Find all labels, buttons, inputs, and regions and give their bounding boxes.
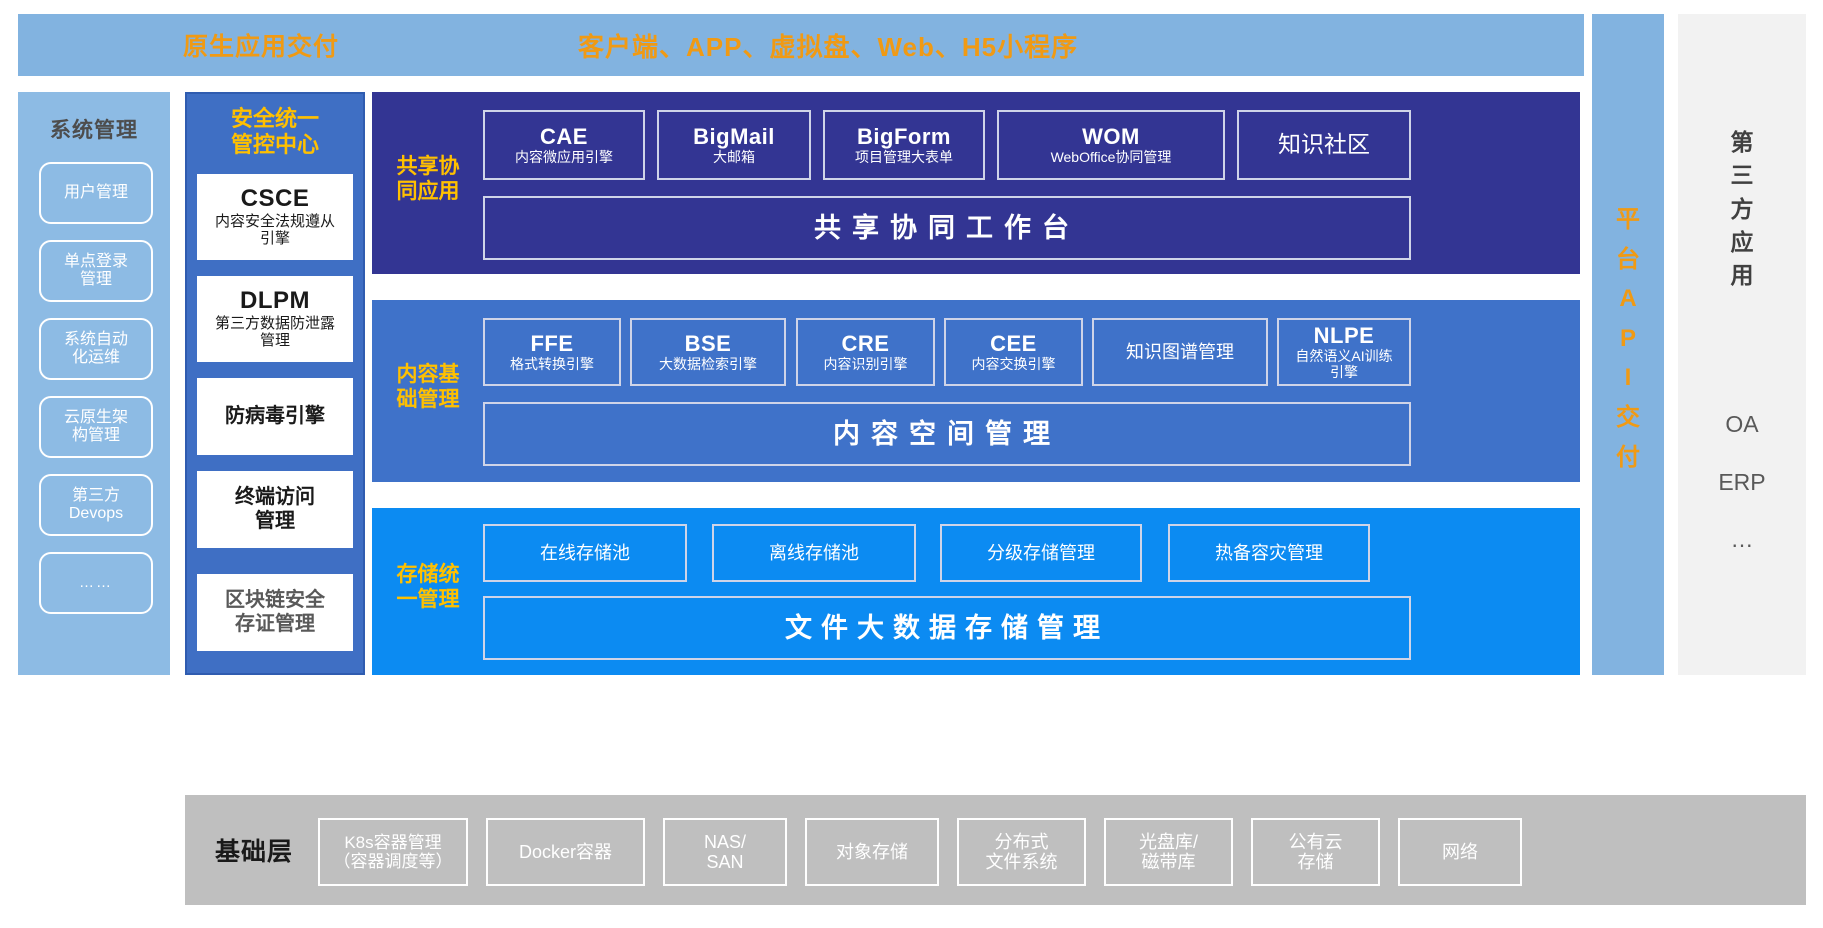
sysmgmt-item-user[interactable]: 用户管理 xyxy=(39,162,153,224)
infra-tile-nas-san[interactable]: NAS/SAN xyxy=(663,818,787,886)
infra-tile-label: Docker容器 xyxy=(519,842,612,862)
system-management-title: 系统管理 xyxy=(18,114,170,144)
security-item-label: 区块链安全存证管理 xyxy=(225,589,325,636)
sysmgmt-item-label: 第三方Devops xyxy=(69,487,123,523)
platform-api-delivery-label: 平台API交付 xyxy=(1592,200,1664,477)
tile-sub: 自然语义AI训练引擎 xyxy=(1295,348,1392,380)
third-party-items: OAERP… xyxy=(1678,396,1806,569)
infra-tile-network[interactable]: 网络 xyxy=(1398,818,1522,886)
tile-sub: 项目管理大表单 xyxy=(855,149,953,165)
wide-bar-label: 共享协同工作台 xyxy=(814,213,1080,243)
tile-wom[interactable]: WOM WebOffice协同管理 xyxy=(997,110,1225,180)
security-item-antivirus[interactable]: 防病毒引擎 xyxy=(197,378,353,455)
shared-collaboration-label: 共享协同应用 xyxy=(382,154,474,204)
tile-cre[interactable]: CRE 内容识别引擎 xyxy=(796,318,935,386)
security-item-label: 终端访问管理 xyxy=(235,486,315,533)
security-item-dlpm[interactable]: DLPM 第三方数据防泄露管理 xyxy=(197,276,353,362)
native-app-delivery-label: 原生应用交付 xyxy=(183,14,339,76)
shared-collaboration-workbench-bar[interactable]: 共享协同工作台 xyxy=(483,196,1411,260)
infrastructure-title: 基础层 xyxy=(215,795,293,905)
tile-nlpe[interactable]: NLPE 自然语义AI训练引擎 xyxy=(1277,318,1411,386)
tile-label: 知识图谱管理 xyxy=(1126,342,1234,362)
infra-tile-label: K8s容器管理（容器调度等） xyxy=(334,833,453,871)
sysmgmt-item-sso[interactable]: 单点登录管理 xyxy=(39,240,153,302)
sysmgmt-item-devops[interactable]: 第三方Devops xyxy=(39,474,153,536)
tile-abbr: NLPE xyxy=(1314,324,1375,349)
sysmgmt-item-label: 系统自动化运维 xyxy=(64,331,128,367)
wide-bar-label: 内容空间管理 xyxy=(833,419,1061,449)
tile-abbr: BigForm xyxy=(857,125,951,150)
security-control-center-panel: 安全统一管控中心 CSCE 内容安全法规遵从引擎 DLPM 第三方数据防泄露管理… xyxy=(185,92,365,675)
security-item-abbr: CSCE xyxy=(241,186,310,213)
third-party-app-column: 第三方应用 OAERP… xyxy=(1678,14,1806,675)
infra-tile-label: 对象存储 xyxy=(836,842,908,862)
content-foundation-band: 内容基础管理 FFE 格式转换引擎 BSE 大数据检索引擎 CRE 内容识别引擎… xyxy=(372,300,1580,482)
infra-tile-label: 光盘库/磁带库 xyxy=(1139,832,1198,872)
tile-offline-pool[interactable]: 离线存储池 xyxy=(712,524,916,582)
security-center-title: 安全统一管控中心 xyxy=(187,106,363,158)
tile-sub: 内容交换引擎 xyxy=(972,356,1056,372)
tile-sub: 内容微应用引擎 xyxy=(515,149,613,165)
system-management-panel: 系统管理 用户管理 单点登录管理 系统自动化运维 云原生架构管理 第三方Devo… xyxy=(18,92,170,675)
tile-bse[interactable]: BSE 大数据检索引擎 xyxy=(630,318,786,386)
tile-sub: 格式转换引擎 xyxy=(510,356,594,372)
infra-tile-label: 公有云存储 xyxy=(1289,832,1343,872)
top-delivery-banner: 原生应用交付 客户端、APP、虚拟盘、Web、H5小程序 xyxy=(18,14,1584,76)
sysmgmt-item-more[interactable]: …… xyxy=(39,552,153,614)
infra-tile-distributed-fs[interactable]: 分布式文件系统 xyxy=(957,818,1086,886)
infra-tile-optical-tape[interactable]: 光盘库/磁带库 xyxy=(1104,818,1233,886)
tile-online-pool[interactable]: 在线存储池 xyxy=(483,524,687,582)
tile-sub: WebOffice协同管理 xyxy=(1051,149,1172,165)
storage-unified-label: 存储统一管理 xyxy=(380,562,476,612)
security-item-label: 防病毒引擎 xyxy=(225,405,325,429)
content-space-management-bar[interactable]: 内容空间管理 xyxy=(483,402,1411,466)
tile-cae[interactable]: CAE 内容微应用引擎 xyxy=(483,110,645,180)
security-item-sub: 第三方数据防泄露管理 xyxy=(215,315,335,349)
tile-label: 热备容灾管理 xyxy=(1215,543,1323,563)
tile-hotbackup-dr[interactable]: 热备容灾管理 xyxy=(1168,524,1370,582)
tile-label: 知识社区 xyxy=(1278,132,1370,158)
tile-abbr: FFE xyxy=(530,332,573,357)
tile-label: 在线存储池 xyxy=(540,543,630,563)
tile-tiered-storage[interactable]: 分级存储管理 xyxy=(940,524,1142,582)
security-item-csce[interactable]: CSCE 内容安全法规遵从引擎 xyxy=(197,174,353,260)
tile-bigform[interactable]: BigForm 项目管理大表单 xyxy=(823,110,985,180)
sysmgmt-item-label: 单点登录管理 xyxy=(64,253,128,289)
infra-tile-label: 网络 xyxy=(1442,842,1478,862)
infra-tile-label: 分布式文件系统 xyxy=(986,832,1058,872)
wide-bar-label: 文件大数据存储管理 xyxy=(785,613,1109,643)
tile-sub: 大邮箱 xyxy=(713,149,755,165)
security-item-sub: 内容安全法规遵从引擎 xyxy=(215,213,335,247)
tile-abbr: CRE xyxy=(842,332,890,357)
infra-tile-k8s[interactable]: K8s容器管理（容器调度等） xyxy=(318,818,468,886)
file-bigdata-storage-bar[interactable]: 文件大数据存储管理 xyxy=(483,596,1411,660)
infra-tile-docker[interactable]: Docker容器 xyxy=(486,818,645,886)
tile-label: 离线存储池 xyxy=(769,543,859,563)
tile-abbr: WOM xyxy=(1082,125,1140,150)
security-item-abbr: DLPM xyxy=(240,288,310,315)
shared-collaboration-band: 共享协同应用 CAE 内容微应用引擎 BigMail 大邮箱 BigForm 项… xyxy=(372,92,1580,274)
architecture-diagram: 原生应用交付 客户端、APP、虚拟盘、Web、H5小程序 系统管理 用户管理 单… xyxy=(0,0,1823,928)
infra-tile-object[interactable]: 对象存储 xyxy=(805,818,939,886)
infra-tile-label: NAS/SAN xyxy=(704,832,746,872)
tile-sub: 内容识别引擎 xyxy=(824,356,908,372)
sysmgmt-item-label: 云原生架构管理 xyxy=(64,409,128,445)
tile-sub: 大数据检索引擎 xyxy=(659,356,757,372)
infra-tile-public-cloud[interactable]: 公有云存储 xyxy=(1251,818,1380,886)
tile-ffe[interactable]: FFE 格式转换引擎 xyxy=(483,318,621,386)
tile-label: 分级存储管理 xyxy=(987,543,1095,563)
tile-knowledge-community[interactable]: 知识社区 xyxy=(1237,110,1411,180)
tile-abbr: BSE xyxy=(685,332,732,357)
tile-knowledge-graph[interactable]: 知识图谱管理 xyxy=(1092,318,1268,386)
storage-unified-band: 存储统一管理 在线存储池 离线存储池 分级存储管理 热备容灾管理 文件大数据存储… xyxy=(372,508,1580,675)
tile-abbr: CEE xyxy=(990,332,1037,357)
client-channels-label: 客户端、APP、虚拟盘、Web、H5小程序 xyxy=(578,14,1078,76)
third-party-title: 第三方应用 xyxy=(1678,126,1806,293)
sysmgmt-item-label: 用户管理 xyxy=(64,184,128,202)
sysmgmt-item-automation[interactable]: 系统自动化运维 xyxy=(39,318,153,380)
content-foundation-label: 内容基础管理 xyxy=(380,362,476,412)
sysmgmt-item-cloudnative[interactable]: 云原生架构管理 xyxy=(39,396,153,458)
infrastructure-layer: 基础层 K8s容器管理（容器调度等） Docker容器 NAS/SAN 对象存储… xyxy=(185,795,1806,905)
tile-abbr: CAE xyxy=(540,125,588,150)
tile-bigmail[interactable]: BigMail 大邮箱 xyxy=(657,110,811,180)
security-item-blockchain[interactable]: 区块链安全存证管理 xyxy=(197,574,353,651)
tile-abbr: BigMail xyxy=(693,125,775,150)
security-item-terminal-access[interactable]: 终端访问管理 xyxy=(197,471,353,548)
sysmgmt-item-label: …… xyxy=(79,575,113,592)
tile-cee[interactable]: CEE 内容交换引擎 xyxy=(944,318,1083,386)
platform-api-delivery-column: 平台API交付 xyxy=(1592,14,1664,675)
